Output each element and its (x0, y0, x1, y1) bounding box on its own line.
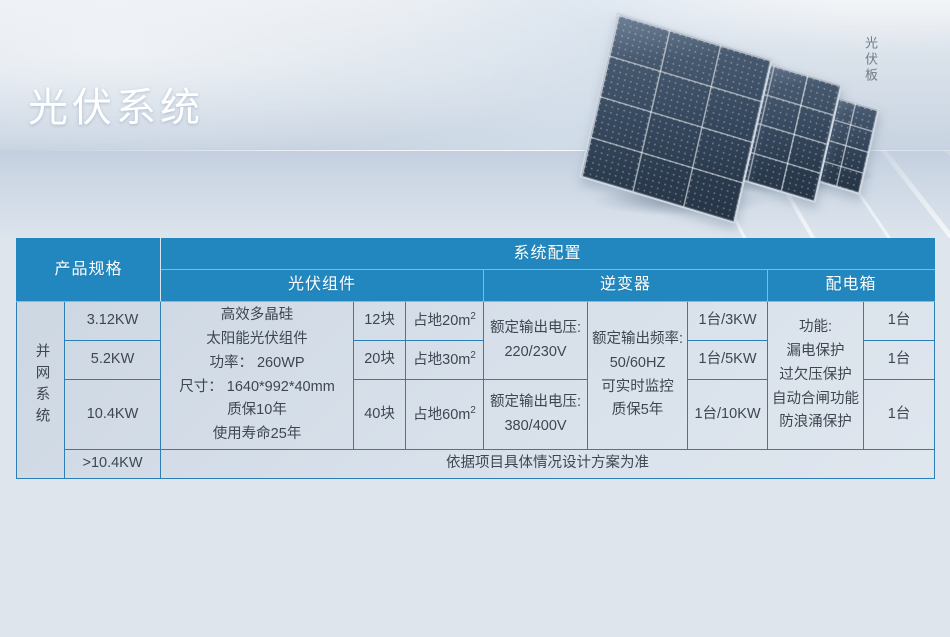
module-desc-line: 太阳能光伏组件 (164, 328, 350, 352)
cell-area: 占地20m2 (406, 301, 484, 340)
module-desc-line: 功率： 260WP (164, 352, 350, 376)
cell-area: 占地60m2 (406, 380, 484, 450)
system-type-label: 并网系统 (29, 343, 53, 429)
box-desc-line: 功能: (771, 316, 860, 340)
inverter-desc-line: 可实时监控 (591, 376, 684, 400)
box-desc-line: 防浪涌保护 (771, 411, 860, 435)
table-row-note: >10.4KW 依据项目具体情况设计方案为准 (17, 450, 935, 479)
module-desc-line: 质保10年 (164, 399, 350, 423)
cell-box-qty: 1台 (864, 380, 935, 450)
cell-capacity: 5.2KW (65, 341, 161, 380)
specification-table: 产品规格 系统配置 光伏组件 逆变器 配电箱 并网系统 3.12KW 高效多晶硅… (16, 238, 935, 479)
cell-inverter-qty: 1台/10KW (688, 380, 768, 450)
cell-capacity: 10.4KW (65, 380, 161, 450)
inverter-desc-line: 质保5年 (591, 399, 684, 423)
box-desc-line: 漏电保护 (771, 340, 860, 364)
cell-module-count: 40块 (354, 380, 406, 450)
inverter-desc-line: 50/60HZ (591, 352, 684, 376)
cell-module-count: 12块 (354, 301, 406, 340)
header-group-inverter: 逆变器 (484, 270, 768, 301)
area-unit-exponent: 2 (470, 311, 475, 322)
cell-capacity-over: >10.4KW (65, 450, 161, 479)
module-desc-line: 高效多晶硅 (164, 304, 350, 328)
cell-box-qty: 1台 (864, 341, 935, 380)
box-desc-line: 自动合闸功能 (771, 388, 860, 412)
module-desc-line: 尺寸： 1640*992*40mm (164, 376, 350, 400)
voltage-label: 额定输出电压: (487, 391, 584, 415)
cell-area: 占地30m2 (406, 341, 484, 380)
page-title: 光伏系统 (28, 88, 204, 128)
cell-system-type: 并网系统 (17, 301, 65, 478)
module-desc-line: 使用寿命25年 (164, 423, 350, 447)
header-group-pv-module: 光伏组件 (161, 270, 484, 301)
header-group-distribution-box: 配电箱 (768, 270, 935, 301)
area-unit-exponent: 2 (470, 405, 475, 416)
solar-panel-illustration (580, 10, 880, 225)
cell-inverter-qty: 1台/5KW (688, 341, 768, 380)
voltage-value: 380/400V (487, 415, 584, 439)
cell-inverter-qty: 1台/3KW (688, 301, 768, 340)
cell-module-count: 20块 (354, 341, 406, 380)
voltage-value: 220/230V (487, 341, 584, 365)
cell-box-description: 功能: 漏电保护 过欠压保护 自动合闸功能 防浪涌保护 (768, 301, 864, 450)
cell-design-note: 依据项目具体情况设计方案为准 (161, 450, 935, 479)
hero-banner: 光伏系统 光伏板 (0, 0, 950, 238)
voltage-label: 额定输出电压: (487, 317, 584, 341)
table-header-row-1: 产品规格 系统配置 (17, 239, 935, 270)
header-product-spec: 产品规格 (17, 239, 161, 302)
solar-panel-label: 光伏板 (856, 36, 878, 84)
cell-capacity: 3.12KW (65, 301, 161, 340)
area-value: 占地30m (413, 352, 470, 368)
cell-box-qty: 1台 (864, 301, 935, 340)
cell-inverter-description: 额定输出频率: 50/60HZ 可实时监控 质保5年 (588, 301, 688, 450)
area-unit-exponent: 2 (470, 350, 475, 361)
table-row: 并网系统 3.12KW 高效多晶硅 太阳能光伏组件 功率： 260WP 尺寸： … (17, 301, 935, 340)
area-value: 占地60m (413, 406, 470, 422)
cell-output-voltage-top: 额定输出电压: 220/230V (484, 301, 588, 380)
ground-line (880, 150, 950, 238)
cell-output-voltage-bottom: 额定输出电压: 380/400V (484, 380, 588, 450)
area-value: 占地20m (413, 312, 470, 328)
header-system-config: 系统配置 (161, 239, 935, 270)
cell-module-description: 高效多晶硅 太阳能光伏组件 功率： 260WP 尺寸： 1640*992*40m… (161, 301, 354, 450)
box-desc-line: 过欠压保护 (771, 364, 860, 388)
slide-page: 光伏系统 光伏板 产品规格 系统配置 光伏组件 逆变器 配电箱 (0, 0, 950, 637)
inverter-desc-line: 额定输出频率: (591, 328, 684, 352)
